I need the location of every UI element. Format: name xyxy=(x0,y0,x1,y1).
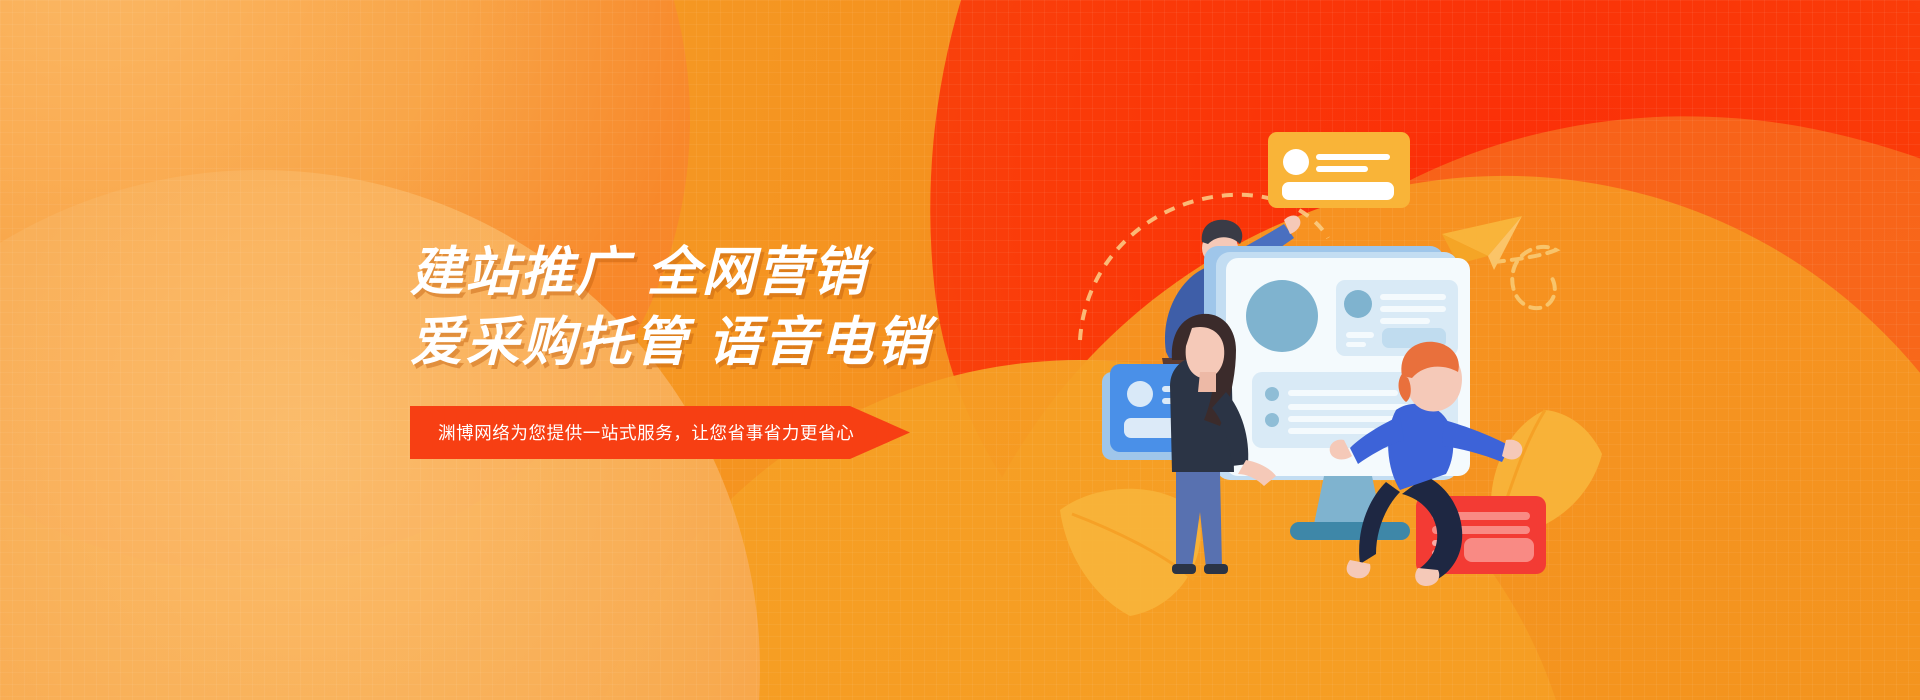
yellow-profile-card xyxy=(1268,132,1410,208)
copy-block: 建站推广 全网营销 爱采购托管 语音电销 渊博网络为您提供一站式服务，让您省事省… xyxy=(410,238,1030,459)
promo-banner: 建站推广 全网营销 爱采购托管 语音电销 渊博网络为您提供一站式服务，让您省事省… xyxy=(0,0,1920,700)
headline-line-2: 爱采购托管 语音电销 xyxy=(410,308,1030,378)
subtitle-ribbon: 渊博网络为您提供一站式服务，让您省事省力更省心 xyxy=(410,406,910,459)
team-illustration xyxy=(1100,120,1560,600)
subtitle-ribbon-text: 渊博网络为您提供一站式服务，让您省事省力更省心 xyxy=(410,420,854,445)
headline-line-1: 建站推广 全网营销 xyxy=(410,238,1030,308)
